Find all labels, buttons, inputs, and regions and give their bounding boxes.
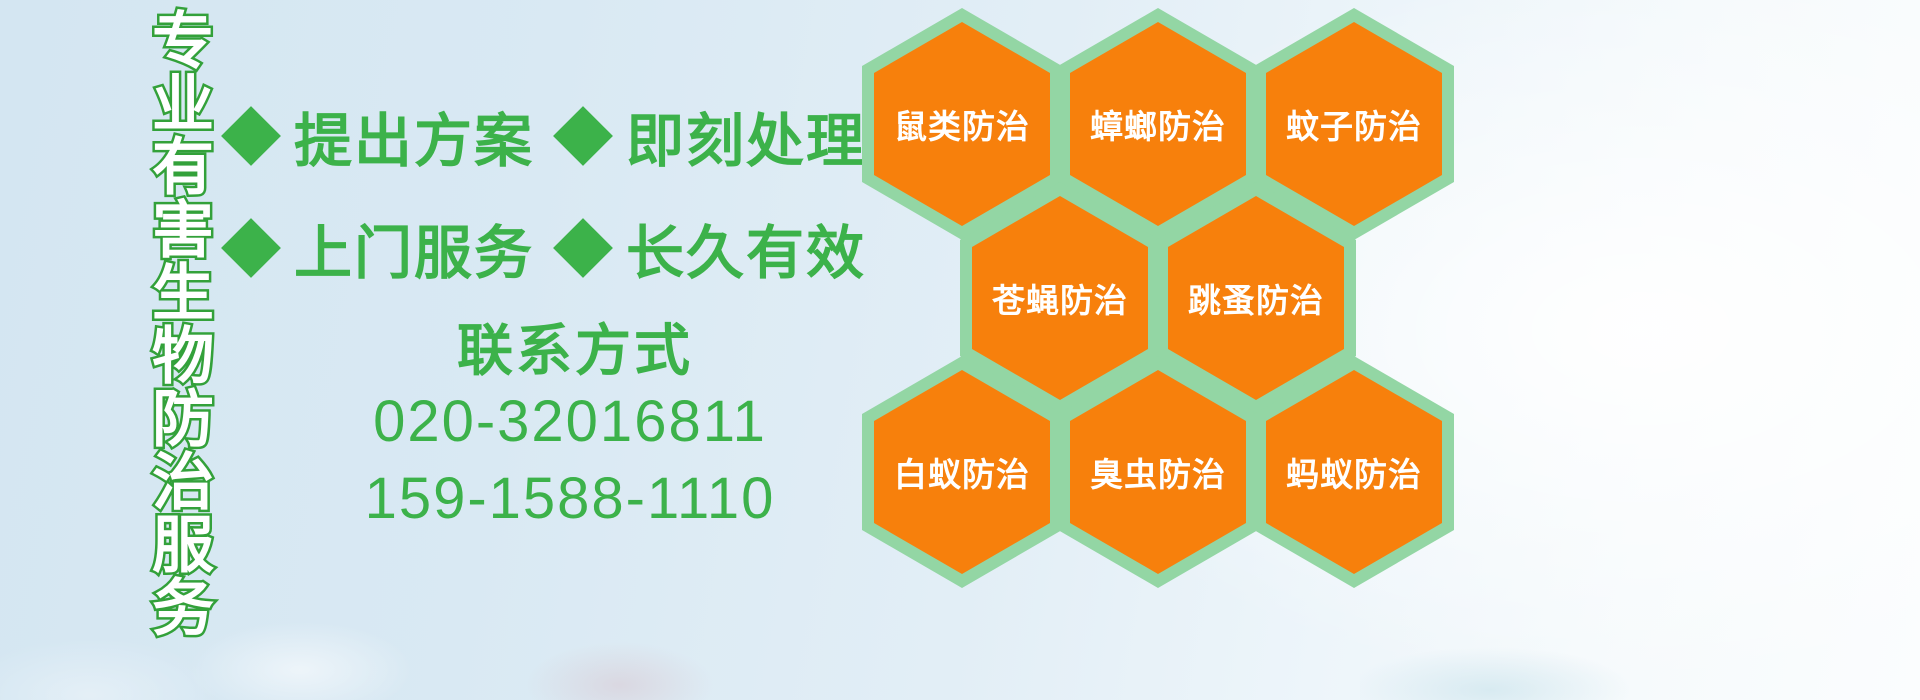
feature-item-immediate-handling: 即刻处理 <box>560 94 866 178</box>
contact-block: 联系方式 020-32016811 159-1588-1110 <box>240 318 900 537</box>
feature-label: 上门服务 <box>294 206 534 290</box>
feature-item-onsite-service: 上门服务 <box>228 206 534 290</box>
service-hex-bedbug[interactable]: 臭虫防治 <box>1058 356 1258 588</box>
feature-list: 提出方案 即刻处理 上门服务 长久有效 <box>228 80 868 304</box>
feature-item-propose-plan: 提出方案 <box>228 94 534 178</box>
contact-heading: 联系方式 <box>250 318 900 384</box>
diamond-icon <box>221 106 281 166</box>
service-label: 蚂蚁防治 <box>1254 356 1454 588</box>
feature-row-1: 提出方案 即刻处理 <box>228 80 868 192</box>
diamond-icon <box>553 106 613 166</box>
service-label: 白蚁防治 <box>862 356 1062 588</box>
promo-banner: 专业有害生物防治服务 提出方案 即刻处理 上门服务 长久有效 联系方式 0 <box>0 0 1920 700</box>
feature-label: 即刻处理 <box>626 94 866 178</box>
service-hex-termite[interactable]: 白蚁防治 <box>862 356 1062 588</box>
diamond-icon <box>221 218 281 278</box>
feature-label: 长久有效 <box>626 206 866 290</box>
feature-row-2: 上门服务 长久有效 <box>228 192 868 304</box>
service-label: 臭虫防治 <box>1058 356 1258 588</box>
phone-number-mobile[interactable]: 159-1588-1110 <box>240 461 900 538</box>
diamond-icon <box>553 218 613 278</box>
feature-label: 提出方案 <box>294 94 534 178</box>
feature-item-long-lasting: 长久有效 <box>560 206 866 290</box>
vertical-headline: 专业有害生物防治服务 <box>112 8 208 638</box>
phone-number-landline[interactable]: 020-32016811 <box>240 384 900 461</box>
service-hexagon-grid: 鼠类防治 蟑螂防治 蚊子防治 苍蝇防治 跳蚤防治 白蚁防治 <box>862 0 1462 700</box>
service-hex-ant[interactable]: 蚂蚁防治 <box>1254 356 1454 588</box>
